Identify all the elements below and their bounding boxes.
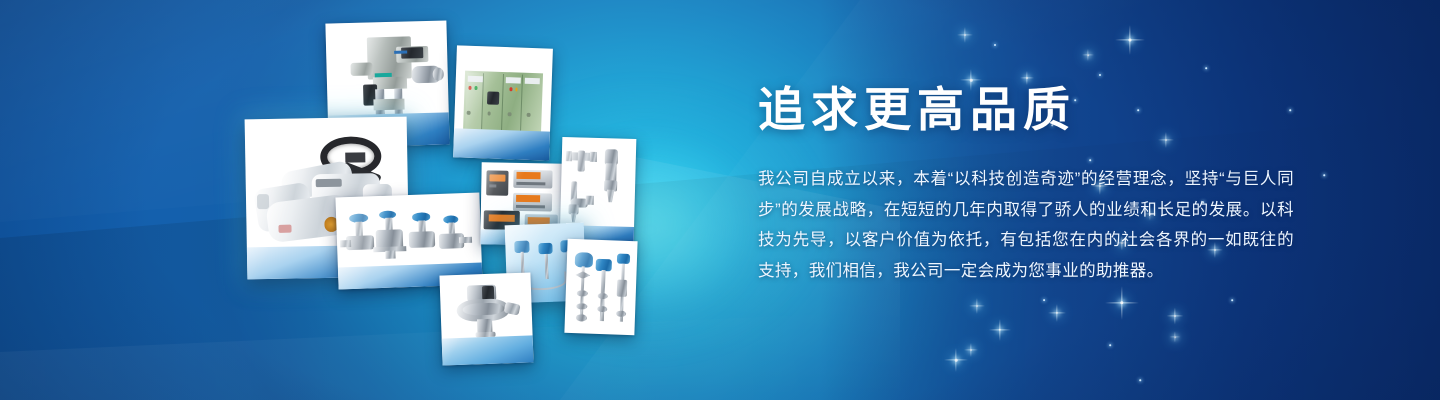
- banner-body-text: 我公司自成立以来，本着“以科技创造奇迹”的经营理念，坚持“与巨人同步”的发展战略…: [758, 164, 1294, 286]
- card-switchgear-cabinet: [453, 45, 553, 160]
- card-sheen: [439, 272, 533, 365]
- card-sheen: [453, 45, 553, 160]
- banner-copy: 追求更高品质 我公司自成立以来，本着“以科技创造奇迹”的经营理念，坚持“与巨人同…: [758, 0, 1318, 400]
- card-pressure-regulator: [439, 272, 533, 365]
- banner-body: 我公司自成立以来，本着“以科技创造奇迹”的经营理念，坚持“与巨人同步”的发展战略…: [758, 164, 1294, 286]
- card-magnetic-level-gauge: [564, 239, 637, 335]
- promo-banner: 追求更高品质 我公司自成立以来，本着“以科技创造奇迹”的经营理念，坚持“与巨人同…: [0, 0, 1440, 400]
- product-photo-collage: [0, 0, 700, 400]
- card-sheen: [564, 239, 637, 335]
- banner-title: 追求更高品质: [758, 84, 1076, 136]
